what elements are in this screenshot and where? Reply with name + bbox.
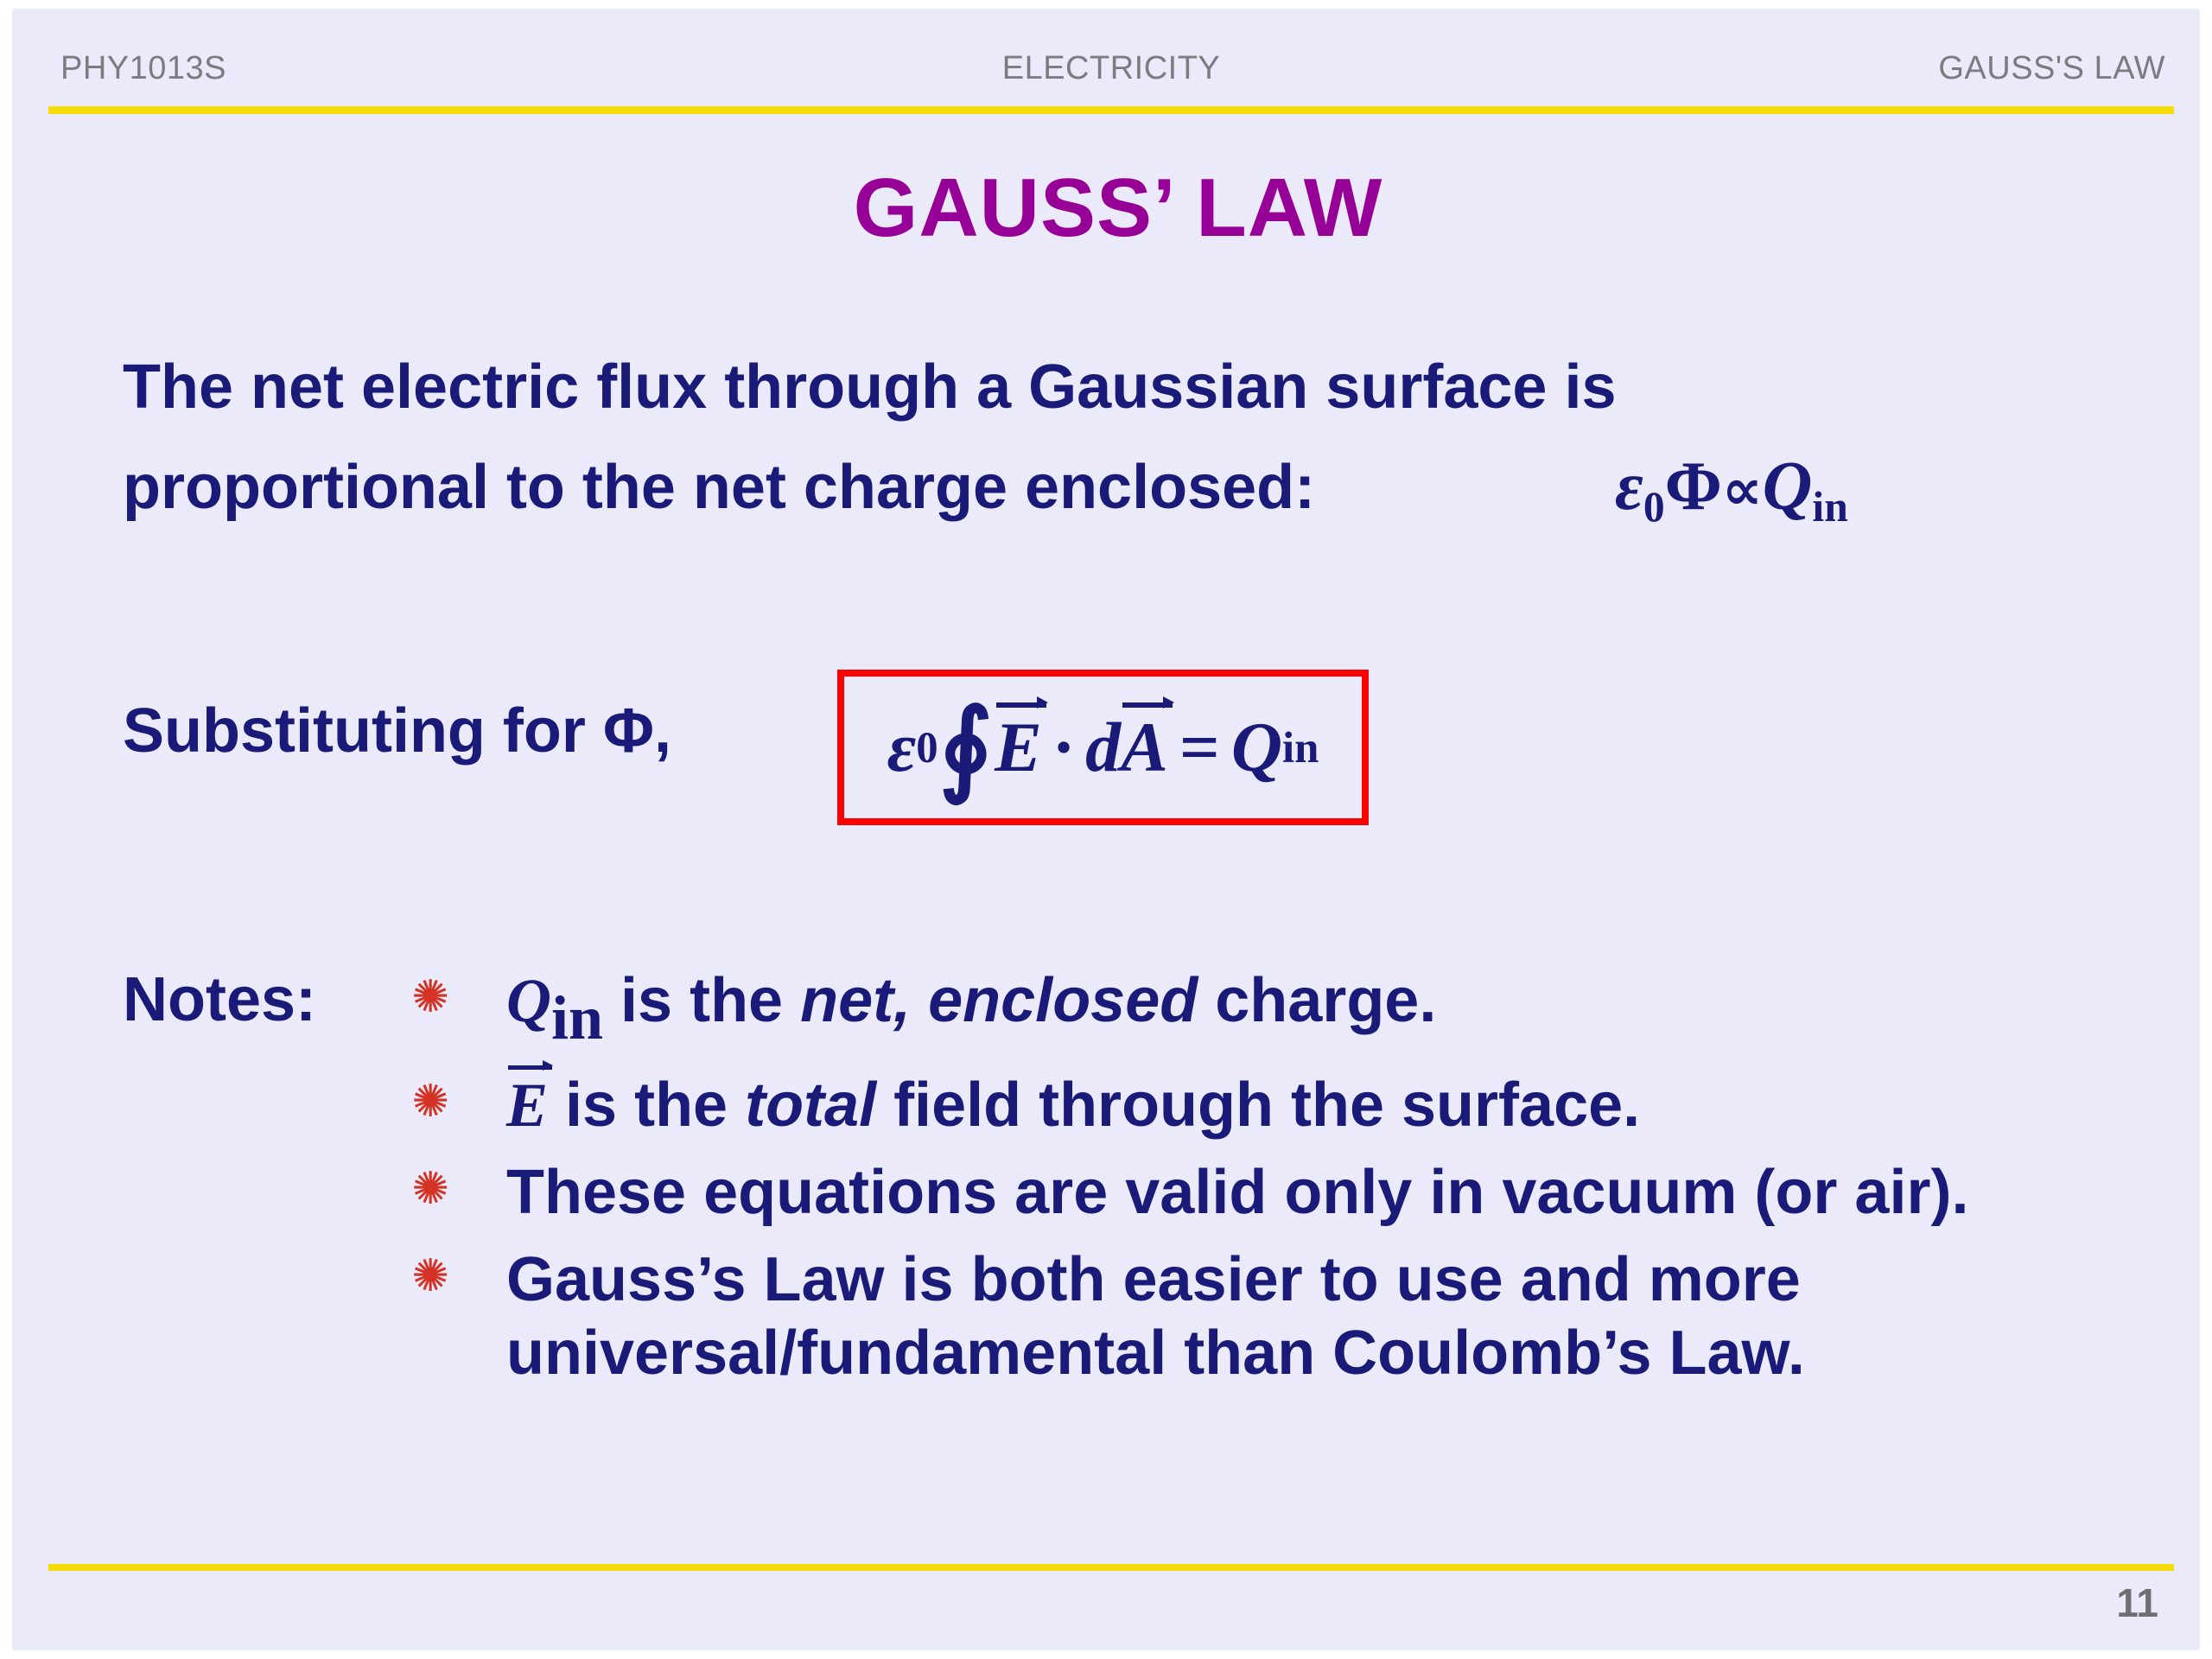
intro-line-2: proportional to the net charge enclosed: <box>123 456 1315 518</box>
note-emphasis: total <box>745 1071 876 1140</box>
list-item: ✺ Gauss’s Law is both easier to use and … <box>410 1243 2103 1390</box>
note-text: These equations are valid only in vacuum… <box>506 1156 2103 1230</box>
epsilon-symbol: ε <box>1615 448 1643 524</box>
inline-equation-flux-proportionality: ε0Φ∝Qin <box>1615 448 1848 531</box>
notes-list: ✺ Qin is the net, enclosed charge. ✺ E i… <box>410 964 2103 1390</box>
note-text-before: is the <box>548 1071 745 1140</box>
note-text-after: field through the surface. <box>876 1071 1640 1140</box>
gauss-law-equation: ε0∮E·dA=Qin <box>844 677 1362 818</box>
starburst-bullet-icon: ✺ <box>410 1168 451 1210</box>
epsilon-symbol: ε <box>887 707 917 788</box>
starburst-bullet-icon: ✺ <box>410 1081 451 1122</box>
notes-label: Notes: <box>123 964 316 1035</box>
note-text: Gauss’s Law is both easier to use and mo… <box>506 1243 2103 1390</box>
note-text: E is the total field through the surface… <box>506 1069 2103 1142</box>
closed-surface-integral-icon: ∮ <box>939 709 993 785</box>
substituting-label: Substituting for Φ, <box>123 700 671 762</box>
list-item: ✺ Qin is the net, enclosed charge. <box>410 964 2103 1055</box>
list-item: ✺ E is the total field through the surfa… <box>410 1069 2103 1142</box>
charge-subscript: in <box>1812 483 1847 531</box>
boxed-equation-container: ε0∮E·dA=Qin <box>837 670 1369 825</box>
electric-field-vector: E <box>506 1069 548 1142</box>
footer-divider-rule <box>48 1564 2174 1571</box>
vector-arrow-icon <box>1122 702 1173 708</box>
note-text-after: charge. <box>1198 966 1436 1035</box>
field-symbol: E <box>506 1071 548 1140</box>
area-vector: A <box>1121 707 1168 788</box>
differential-symbol: d <box>1085 707 1121 788</box>
epsilon-subscript: 0 <box>1643 483 1665 531</box>
starburst-bullet-icon: ✺ <box>410 1255 451 1297</box>
header-divider-rule <box>48 106 2174 114</box>
dot-product-symbol: · <box>1042 707 1085 788</box>
charge-subscript: in <box>551 983 603 1052</box>
intro-line-1: The net electric flux through a Gaussian… <box>123 356 1617 418</box>
header-course-code: PHY1013S <box>60 50 226 87</box>
list-item: ✺ These equations are valid only in vacu… <box>410 1156 2103 1230</box>
phi-symbol: Φ <box>1665 448 1722 524</box>
charge-subscript: in <box>1282 722 1319 772</box>
header-topic: ELECTRICITY <box>1002 50 1221 87</box>
area-symbol: A <box>1121 708 1168 786</box>
slide-canvas: PHY1013S ELECTRICITY GAUSS'S LAW GAUSS’ … <box>0 0 2212 1659</box>
note-text-before: is the <box>603 966 800 1035</box>
page-number: 11 <box>2116 1580 2158 1626</box>
charge-symbol: Q <box>506 966 551 1035</box>
field-symbol: E <box>995 708 1042 786</box>
epsilon-subscript: 0 <box>916 722 938 772</box>
electric-field-vector: E <box>995 707 1042 788</box>
page-title: GAUSS’ LAW <box>12 161 2212 256</box>
vector-arrow-icon <box>996 702 1046 708</box>
vector-arrow-icon <box>508 1065 552 1070</box>
note-text: Qin is the net, enclosed charge. <box>506 964 2103 1055</box>
equals-symbol: = <box>1168 707 1231 788</box>
charge-symbol: Q <box>1231 707 1282 788</box>
note-emphasis: net, enclosed <box>800 966 1198 1035</box>
header-section: GAUSS'S LAW <box>1938 50 2165 87</box>
proportional-symbol: ∝ <box>1722 457 1763 523</box>
charge-symbol: Q <box>1763 448 1813 524</box>
slide-header: PHY1013S ELECTRICITY GAUSS'S LAW <box>48 50 2174 111</box>
starburst-bullet-icon: ✺ <box>410 976 451 1018</box>
